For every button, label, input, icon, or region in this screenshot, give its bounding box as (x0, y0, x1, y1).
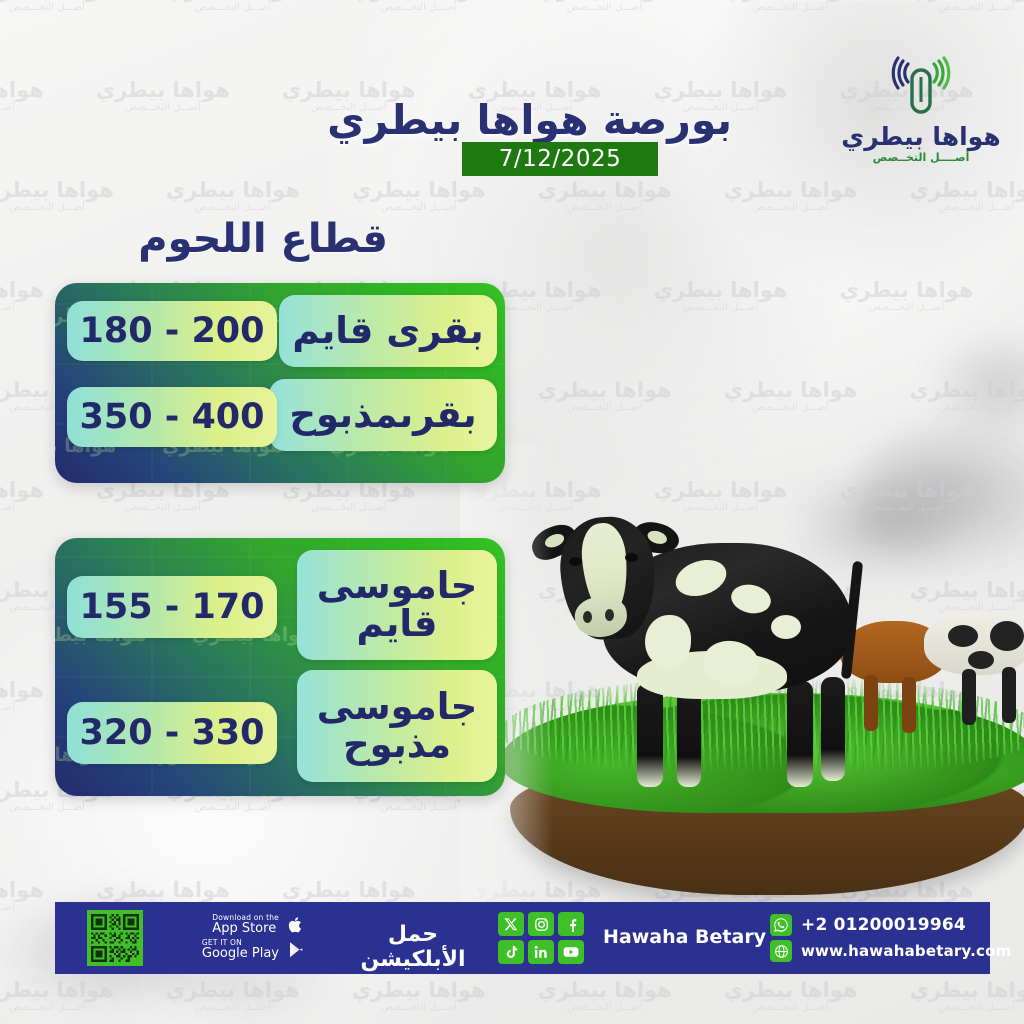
apple-icon (286, 915, 305, 934)
watermark-unit: هواها بيطريأصـــل التخـــصص (96, 80, 230, 113)
watermark-unit: هواها بيطريأصـــل التخـــصص (724, 980, 858, 1013)
poster-root: هواها بيطريأصـــل التخـــصصهواها بيطريأص… (0, 0, 1024, 1024)
watermark-unit: هواها بيطريأصـــل التخـــصص (282, 480, 416, 513)
price-row-label: بقرىمذبوح (269, 379, 497, 451)
watermark-unit: هواها بيطريأصـــل التخـــصص (538, 180, 672, 213)
youtube-icon[interactable] (558, 940, 584, 964)
watermark-unit: هواها بيطريأصـــل التخـــصص (538, 380, 672, 413)
watermark-row: هواها بيطريأصـــل التخـــصصهواها بيطريأص… (0, 180, 1024, 213)
price-row-value: 320 - 330 (67, 702, 277, 764)
watermark-unit: هواها بيطريأصـــل التخـــصص (352, 180, 486, 213)
price-row-label: جاموسى قايم (297, 550, 497, 660)
price-row-label-line1: جاموسى (317, 688, 477, 726)
social-links (498, 912, 584, 964)
watermark-unit: هواها بيطريأصـــل التخـــصص (910, 980, 1024, 1013)
linkedin-icon[interactable] (528, 940, 554, 964)
app-store-badge[interactable]: Download on the App Store (165, 912, 305, 937)
brand-logo: هواها بيطري أصــــل التخــصص (836, 52, 1006, 174)
watermark-unit: هواها بيطريأصـــل التخـــصص (654, 280, 788, 313)
tiktok-icon[interactable] (498, 940, 524, 964)
qr-code[interactable] (87, 910, 143, 966)
watermark-unit: هواها بيطريأصـــل التخـــصص (0, 0, 114, 13)
download-app-label: حمل الأبلكيشن (343, 922, 483, 972)
watermark-unit: هواها بيطريأصـــل التخـــصص (910, 180, 1024, 213)
watermark-unit: هواها بيطريأصـــل التخـــصص (0, 680, 44, 713)
cow-photo (470, 455, 1024, 905)
app-store-big: App Store (212, 922, 279, 935)
watermark-unit: هواها بيطريأصـــل التخـــصص (166, 980, 300, 1013)
google-play-icon (286, 940, 305, 959)
contact-website[interactable]: www.hawahabetary.com (770, 938, 1000, 964)
website-url: www.hawahabetary.com (801, 942, 1011, 960)
price-row-value: 155 - 170 (67, 576, 277, 638)
page-title: بورصة هواها بيطري (327, 96, 732, 144)
watermark-unit: هواها بيطريأصـــل التخـــصص (538, 0, 672, 13)
price-row-value: 180 - 200 (67, 301, 277, 361)
app-store-badges: Download on the App Store GET IT ON Goog… (165, 912, 305, 964)
logo-name: هواها بيطري (836, 122, 1006, 151)
watermark-unit: هواها بيطريأصـــل التخـــصص (0, 980, 114, 1013)
google-play-badge[interactable]: GET IT ON Google Play (165, 937, 305, 962)
contact-info: +2 01200019964 www.hawahabetary.com (770, 912, 1000, 964)
footer-bar: Download on the App Store GET IT ON Goog… (55, 902, 990, 974)
holstein-cow (525, 465, 875, 795)
instagram-icon[interactable] (528, 912, 554, 936)
watermark-unit: هواها بيطريأصـــل التخـــصص (352, 0, 486, 13)
google-play-big: Google Play (202, 947, 279, 960)
watermark-unit: هواها بيطريأصـــل التخـــصص (724, 0, 858, 13)
price-row-label-line1: جاموسى (317, 567, 477, 605)
price-row-value: 350 - 400 (67, 387, 277, 447)
watermark-unit: هواها بيطريأصـــل التخـــصص (724, 380, 858, 413)
logo-tagline: أصــــل التخــصص (836, 151, 1006, 164)
watermark-unit: هواها بيطريأصـــل التخـــصص (166, 0, 300, 13)
price-row-label: جاموسى مذبوح (297, 670, 497, 782)
x-twitter-icon[interactable] (498, 912, 524, 936)
brand-name: Hawaha Betary (603, 926, 766, 948)
watermark-unit: هواها بيطريأصـــل التخـــصص (352, 980, 486, 1013)
price-card-buffalo: هواها بيطريهواها بيطريهواها بيطري هواها … (55, 538, 505, 796)
watermark-unit: هواها بيطريأصـــل التخـــصص (0, 880, 44, 913)
watermark-unit: هواها بيطريأصـــل التخـــصص (840, 280, 974, 313)
date-badge: 7/12/2025 (462, 142, 658, 176)
watermark-row: هواها بيطريأصـــل التخـــصصهواها بيطريأص… (0, 980, 1024, 1013)
phone-number: +2 01200019964 (801, 915, 966, 935)
watermark-unit: هواها بيطريأصـــل التخـــصص (96, 480, 230, 513)
price-card-cattle: هواها بيطريهواها بيطريهواها بيطري هواها … (55, 283, 505, 483)
price-row-label-line2: مذبوح (343, 726, 451, 764)
whatsapp-icon (770, 914, 792, 936)
watermark-row: هواها بيطريأصـــل التخـــصصهواها بيطريأص… (0, 0, 1024, 13)
watermark-unit: هواها بيطريأصـــل التخـــصص (538, 980, 672, 1013)
facebook-icon[interactable] (558, 912, 584, 936)
watermark-unit: هواها بيطريأصـــل التخـــصص (910, 380, 1024, 413)
watermark-unit: هواها بيطريأصـــل التخـــصص (0, 80, 44, 113)
price-row-label-line2: قايم (356, 605, 437, 643)
watermark-unit: هواها بيطريأصـــل التخـــصص (166, 180, 300, 213)
watermark-unit: هواها بيطريأصـــل التخـــصص (0, 180, 114, 213)
contact-phone[interactable]: +2 01200019964 (770, 912, 1000, 938)
price-row-label: بقرى قايم (279, 295, 497, 367)
globe-icon (770, 940, 792, 962)
watermark-unit: هواها بيطريأصـــل التخـــصص (0, 480, 44, 513)
watermark-unit: هواها بيطريأصـــل التخـــصص (724, 180, 858, 213)
watermark-unit: هواها بيطريأصـــل التخـــصص (910, 0, 1024, 13)
stethoscope-waves-icon (888, 52, 954, 118)
watermark-unit: هواها بيطريأصـــل التخـــصص (0, 280, 44, 313)
section-title: قطاع اللحوم (138, 216, 388, 262)
